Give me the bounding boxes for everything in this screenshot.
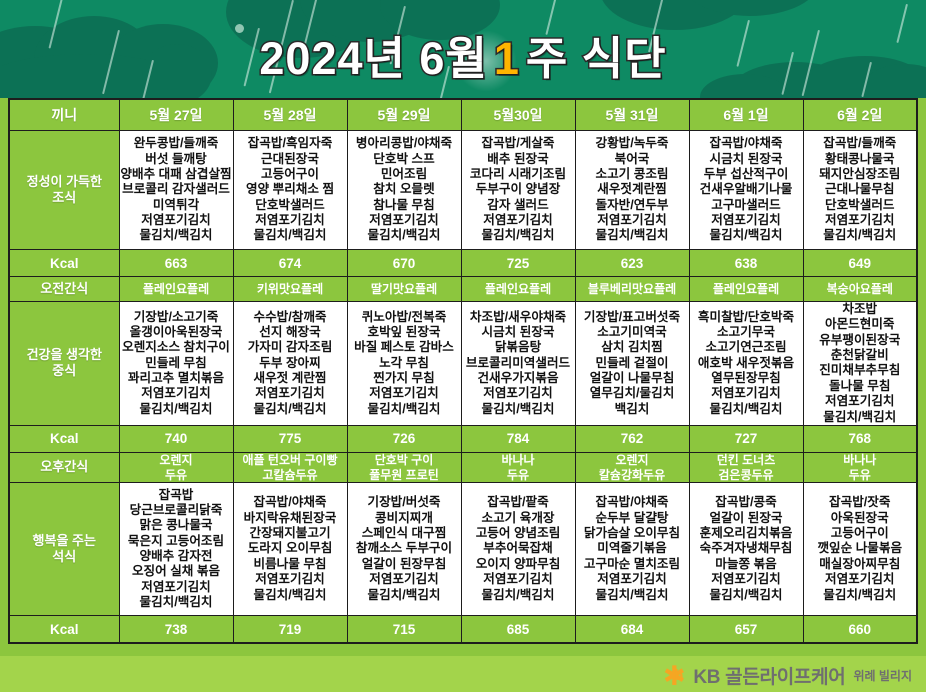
meal-row-cell: 잡곡밥/들깨죽 황태콩나물국 돼지안심장조림 근대나물무침 단호박샐러드 저염포… bbox=[803, 131, 917, 250]
kcal-row-cell: 715 bbox=[347, 616, 461, 644]
header-day-2: 5월 28일 bbox=[233, 99, 347, 131]
row-label: Kcal bbox=[9, 616, 119, 644]
header-day-7: 6월 2일 bbox=[803, 99, 917, 131]
kcal-row: Kcal738719715685684657660 bbox=[9, 616, 917, 644]
kcal-row-cell: 726 bbox=[347, 425, 461, 452]
snack-row-cell: 복숭아요플레 bbox=[803, 277, 917, 302]
kcal-row-cell: 775 bbox=[233, 425, 347, 452]
meal-row-cell: 완두콩밥/들깨죽 버섯 들깨탕 양배추 대패 삼겹살찜 브로콜리 감자샐러드 미… bbox=[119, 131, 233, 250]
header-meal-label: 끼니 bbox=[9, 99, 119, 131]
meal-row-cell: 잡곡밥/흑임자죽 근대된장국 고등어구이 영양 뿌리채소 찜 단호박샐러드 저염… bbox=[233, 131, 347, 250]
snack-row: 오후간식오렌지 두유애플 턴오버 구이빵 고칼슘두유단호박 구이 풀무원 프로틴… bbox=[9, 452, 917, 482]
meal-row-cell: 흑미찰밥/단호박죽 소고기무국 소고기연근조림 애호박 새우젓볶음 열무된장무침… bbox=[689, 302, 803, 426]
kcal-row-cell: 768 bbox=[803, 425, 917, 452]
meal-plan-page: 2024년 6월1주 식단 끼니5월 27일5월 28일5월 29일5월30일5… bbox=[0, 0, 926, 692]
kcal-row-cell: 725 bbox=[461, 250, 575, 277]
meal-row: 행복을 주는 석식잡곡밥 당근브로콜리닭죽 맑은 콩나물국 묵은지 고등어조림 … bbox=[9, 483, 917, 616]
meal-row-cell: 강황밥/녹두죽 북어국 소고기 콩조림 새우젓계란찜 돌자반/연두부 저염포기김… bbox=[575, 131, 689, 250]
meal-row-cell: 잡곡밥/콩죽 얼갈이 된장국 훈제오리김치볶음 숙주겨자냉채무침 마늘쫑 볶음 … bbox=[689, 483, 803, 616]
meal-row-cell: 차조밥/새우야채죽 시금치 된장국 닭볶음탕 브로콜리미역샐러드 건새우가지볶음… bbox=[461, 302, 575, 426]
meal-row: 건강을 생각한 중식기장밥/소고기죽 올갱이아욱된장국 오렌지소스 참치구이 민… bbox=[9, 302, 917, 426]
footer-bar: ✱ b KB 골든라이프케어 위례 빌리지 bbox=[0, 656, 926, 692]
branch-name: 위례 빌리지 bbox=[853, 667, 912, 684]
snack-row-cell: 애플 턴오버 구이빵 고칼슘두유 bbox=[233, 452, 347, 482]
header-day-4: 5월30일 bbox=[461, 99, 575, 131]
kcal-row-cell: 762 bbox=[575, 425, 689, 452]
kcal-row: Kcal663674670725623638649 bbox=[9, 250, 917, 277]
snack-row-cell: 블루베리맛요플레 bbox=[575, 277, 689, 302]
header-day-5: 5월 31일 bbox=[575, 99, 689, 131]
meal-row-cell: 차조밥 아몬드현미죽 유부팽이된장국 춘천닭갈비 진미채부추무침 돌나물 무침 … bbox=[803, 302, 917, 426]
meal-row-cell: 기장밥/버섯죽 콩비지찌개 스페인식 대구찜 참깨소스 두부구이 얼갈이 된장무… bbox=[347, 483, 461, 616]
row-label: Kcal bbox=[9, 425, 119, 452]
snack-row-cell: 바나나 두유 bbox=[461, 452, 575, 482]
snack-row-cell: 던킨 도너츠 검은콩두유 bbox=[689, 452, 803, 482]
snack-row-cell: 딸기맛요플레 bbox=[347, 277, 461, 302]
meal-row-cell: 잡곡밥/게살죽 배추 된장국 코다리 시래기조림 두부구이 양념장 감자 샐러드… bbox=[461, 131, 575, 250]
snack-row-cell: 오렌지 칼슘강화두유 bbox=[575, 452, 689, 482]
meal-row: 정성이 가득한 조식완두콩밥/들깨죽 버섯 들깨탕 양배추 대패 삼겹살찜 브로… bbox=[9, 131, 917, 250]
title-week-number: 1 bbox=[494, 33, 520, 85]
kb-star-icon: ✱ b bbox=[661, 663, 687, 689]
snack-row-cell: 단호박 구이 풀무원 프로틴 bbox=[347, 452, 461, 482]
brand-logo: ✱ b KB 골든라이프케어 위례 빌리지 bbox=[661, 662, 912, 689]
header-day-6: 6월 1일 bbox=[689, 99, 803, 131]
kcal-row-cell: 784 bbox=[461, 425, 575, 452]
meal-row-cell: 병아리콩밥/야채죽 단호박 스프 민어조림 참치 오믈렛 참나물 무침 저염포기… bbox=[347, 131, 461, 250]
row-label: 정성이 가득한 조식 bbox=[9, 131, 119, 250]
meal-row-cell: 기장밥/표고버섯죽 소고기미역국 삼치 김치찜 민들레 겉절이 얼갈이 나물무침… bbox=[575, 302, 689, 426]
title-month-text: 2024년 6월 bbox=[259, 33, 487, 84]
snack-row-cell: 플레인요플레 bbox=[461, 277, 575, 302]
row-label: 오전간식 bbox=[9, 277, 119, 302]
kcal-row-cell: 657 bbox=[689, 616, 803, 644]
header-day-1: 5월 27일 bbox=[119, 99, 233, 131]
weekly-menu-table: 끼니5월 27일5월 28일5월 29일5월30일5월 31일6월 1일6월 2… bbox=[8, 98, 918, 644]
meal-row-cell: 수수밥/참깨죽 선지 해장국 가자미 감자조림 두부 장아찌 새우젓 계란찜 저… bbox=[233, 302, 347, 426]
snack-row-cell: 플레인요플레 bbox=[119, 277, 233, 302]
row-label: 오후간식 bbox=[9, 452, 119, 482]
kcal-row-cell: 638 bbox=[689, 250, 803, 277]
brand-name: KB 골든라이프케어 bbox=[693, 662, 845, 689]
kcal-row-cell: 674 bbox=[233, 250, 347, 277]
kcal-row-cell: 685 bbox=[461, 616, 575, 644]
snack-row-cell: 오렌지 두유 bbox=[119, 452, 233, 482]
meal-row-cell: 기장밥/소고기죽 올갱이아욱된장국 오렌지소스 참치구이 민들레 무침 꽈리고추… bbox=[119, 302, 233, 426]
table-header-row: 끼니5월 27일5월 28일5월 29일5월30일5월 31일6월 1일6월 2… bbox=[9, 99, 917, 131]
snack-row-cell: 바나나 두유 bbox=[803, 452, 917, 482]
meal-row-cell: 퀴노아밥/전복죽 호박잎 된장국 바질 페스토 감바스 노각 무침 찐가지 무침… bbox=[347, 302, 461, 426]
kcal-row-cell: 623 bbox=[575, 250, 689, 277]
kcal-row-cell: 719 bbox=[233, 616, 347, 644]
kcal-row-cell: 660 bbox=[803, 616, 917, 644]
kcal-row-cell: 649 bbox=[803, 250, 917, 277]
meal-row-cell: 잡곡밥/야채죽 시금치 된장국 두부 섭산적구이 건새우알배기나물 고구마샐러드… bbox=[689, 131, 803, 250]
kcal-row: Kcal740775726784762727768 bbox=[9, 425, 917, 452]
kcal-row-cell: 740 bbox=[119, 425, 233, 452]
meal-row-cell: 잡곡밥/팥죽 소고기 육개장 고등어 양념조림 부추어묵잡채 오이지 양파무침 … bbox=[461, 483, 575, 616]
row-label: Kcal bbox=[9, 250, 119, 277]
row-label: 행복을 주는 석식 bbox=[9, 483, 119, 616]
kcal-row-cell: 727 bbox=[689, 425, 803, 452]
kcal-row-cell: 738 bbox=[119, 616, 233, 644]
snack-row-cell: 플레인요플레 bbox=[689, 277, 803, 302]
snack-row: 오전간식플레인요플레키위맛요플레딸기맛요플레플레인요플레블루베리맛요플레플레인요… bbox=[9, 277, 917, 302]
meal-row-cell: 잡곡밥 당근브로콜리닭죽 맑은 콩나물국 묵은지 고등어조림 양배추 감자전 오… bbox=[119, 483, 233, 616]
meal-row-cell: 잡곡밥/야채죽 순두부 달걀탕 닭가슴살 오이무침 미역줄기볶음 고구마순 멸치… bbox=[575, 483, 689, 616]
header-day-3: 5월 29일 bbox=[347, 99, 461, 131]
kcal-row-cell: 663 bbox=[119, 250, 233, 277]
page-title: 2024년 6월1주 식단 bbox=[0, 22, 926, 87]
row-label: 건강을 생각한 중식 bbox=[9, 302, 119, 426]
meal-row-cell: 잡곡밥/잣죽 아욱된장국 고등어구이 깻잎순 나물볶음 매실장아찌무침 저염포기… bbox=[803, 483, 917, 616]
snack-row-cell: 키위맛요플레 bbox=[233, 277, 347, 302]
kcal-row-cell: 684 bbox=[575, 616, 689, 644]
title-suffix-text: 주 식단 bbox=[526, 33, 667, 84]
kcal-row-cell: 670 bbox=[347, 250, 461, 277]
meal-row-cell: 잡곡밥/야채죽 바지락유채된장국 간장돼지불고기 도라지 오이무침 비름나물 무… bbox=[233, 483, 347, 616]
